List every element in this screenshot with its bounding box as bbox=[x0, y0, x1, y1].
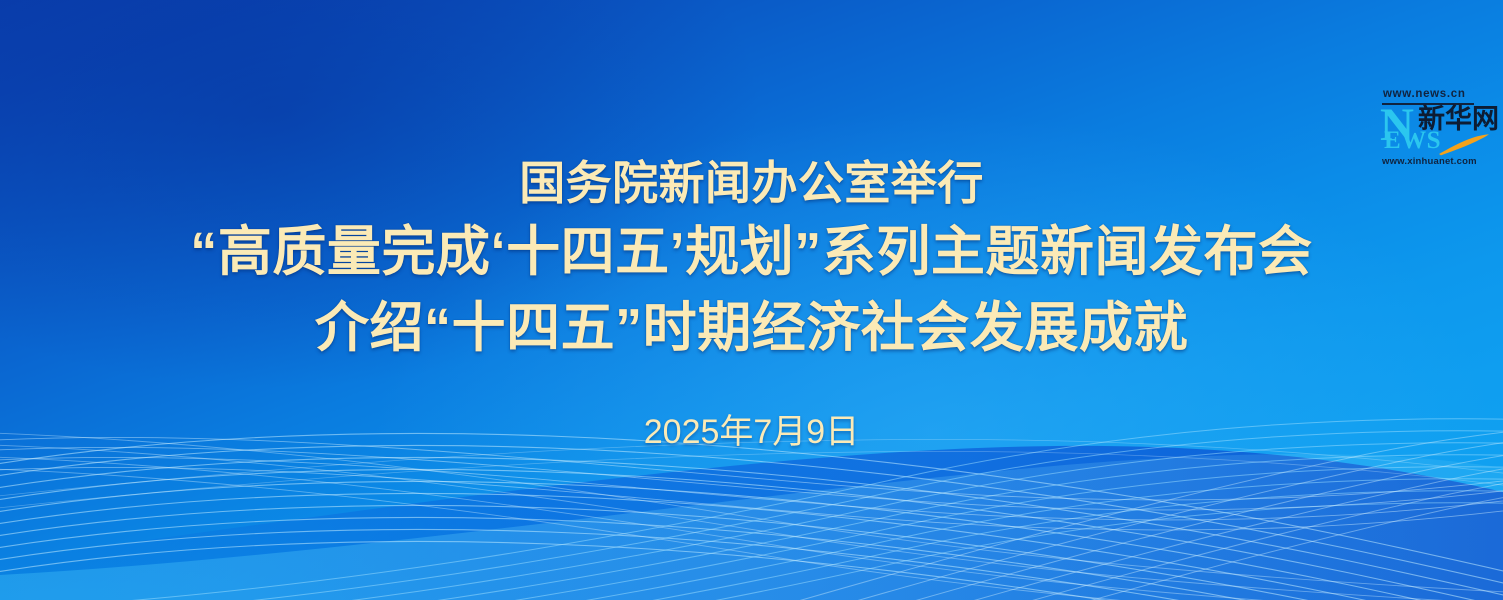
news-conference-banner: 国务院新闻办公室举行 “高质量完成‘十四五’规划”系列主题新闻发布会 介绍“十四… bbox=[0, 0, 1503, 600]
title-line-2: “高质量完成‘十四五’规划”系列主题新闻发布会 bbox=[0, 214, 1503, 290]
event-date: 2025年7月9日 bbox=[0, 404, 1503, 453]
logo-orange-swoosh-icon bbox=[1438, 130, 1490, 156]
title-line-1: 国务院新闻办公室举行 bbox=[0, 152, 1503, 214]
logo-chinese-name: 新华网 bbox=[1418, 105, 1499, 133]
title-line-3: 介绍“十四五”时期经济社会发展成就 bbox=[0, 290, 1503, 366]
banner-title: 国务院新闻办公室举行 “高质量完成‘十四五’规划”系列主题新闻发布会 介绍“十四… bbox=[0, 152, 1503, 366]
logo-url-bottom-text: www.xinhuanet.com bbox=[1382, 156, 1477, 167]
xinhua-logo: www.news.cn N EWS 新华网 www.xinhuanet.com bbox=[1378, 88, 1490, 166]
